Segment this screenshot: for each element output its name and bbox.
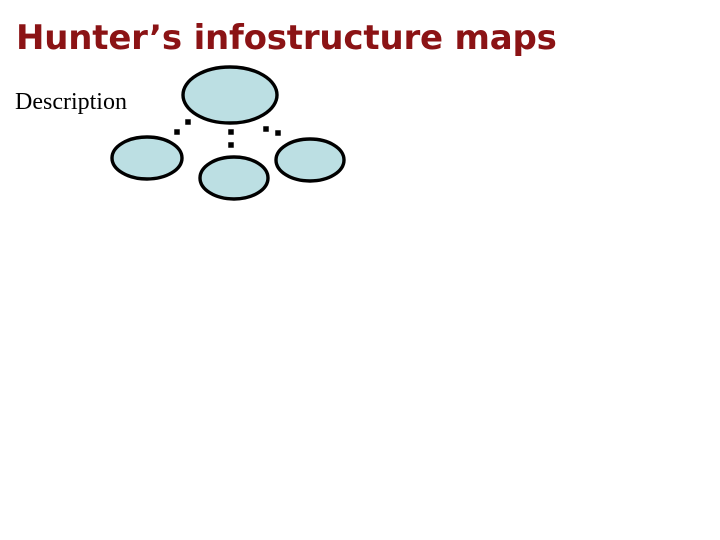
diagram-svg (0, 0, 720, 540)
edge-root-to-child-mid (228, 129, 234, 148)
connector-dot (185, 119, 191, 125)
connector-dot (275, 130, 281, 136)
connector-dot (263, 126, 269, 132)
diagram-node-child-left[interactable] (112, 137, 182, 179)
slide-canvas: Hunter’s infostructure maps Description (0, 0, 720, 540)
connector-dot (174, 129, 180, 135)
connector-dot (228, 142, 234, 148)
diagram-node-child-mid[interactable] (200, 157, 268, 199)
connector-dot (228, 129, 234, 135)
infostructure-map-diagram (0, 0, 720, 540)
description-label: Description (15, 88, 127, 116)
edge-root-to-child-right (263, 126, 281, 136)
page-title: Hunter’s infostructure maps (16, 18, 704, 58)
diagram-node-root[interactable] (183, 67, 277, 123)
diagram-node-child-right[interactable] (276, 139, 344, 181)
edge-root-to-child-left (174, 119, 191, 135)
